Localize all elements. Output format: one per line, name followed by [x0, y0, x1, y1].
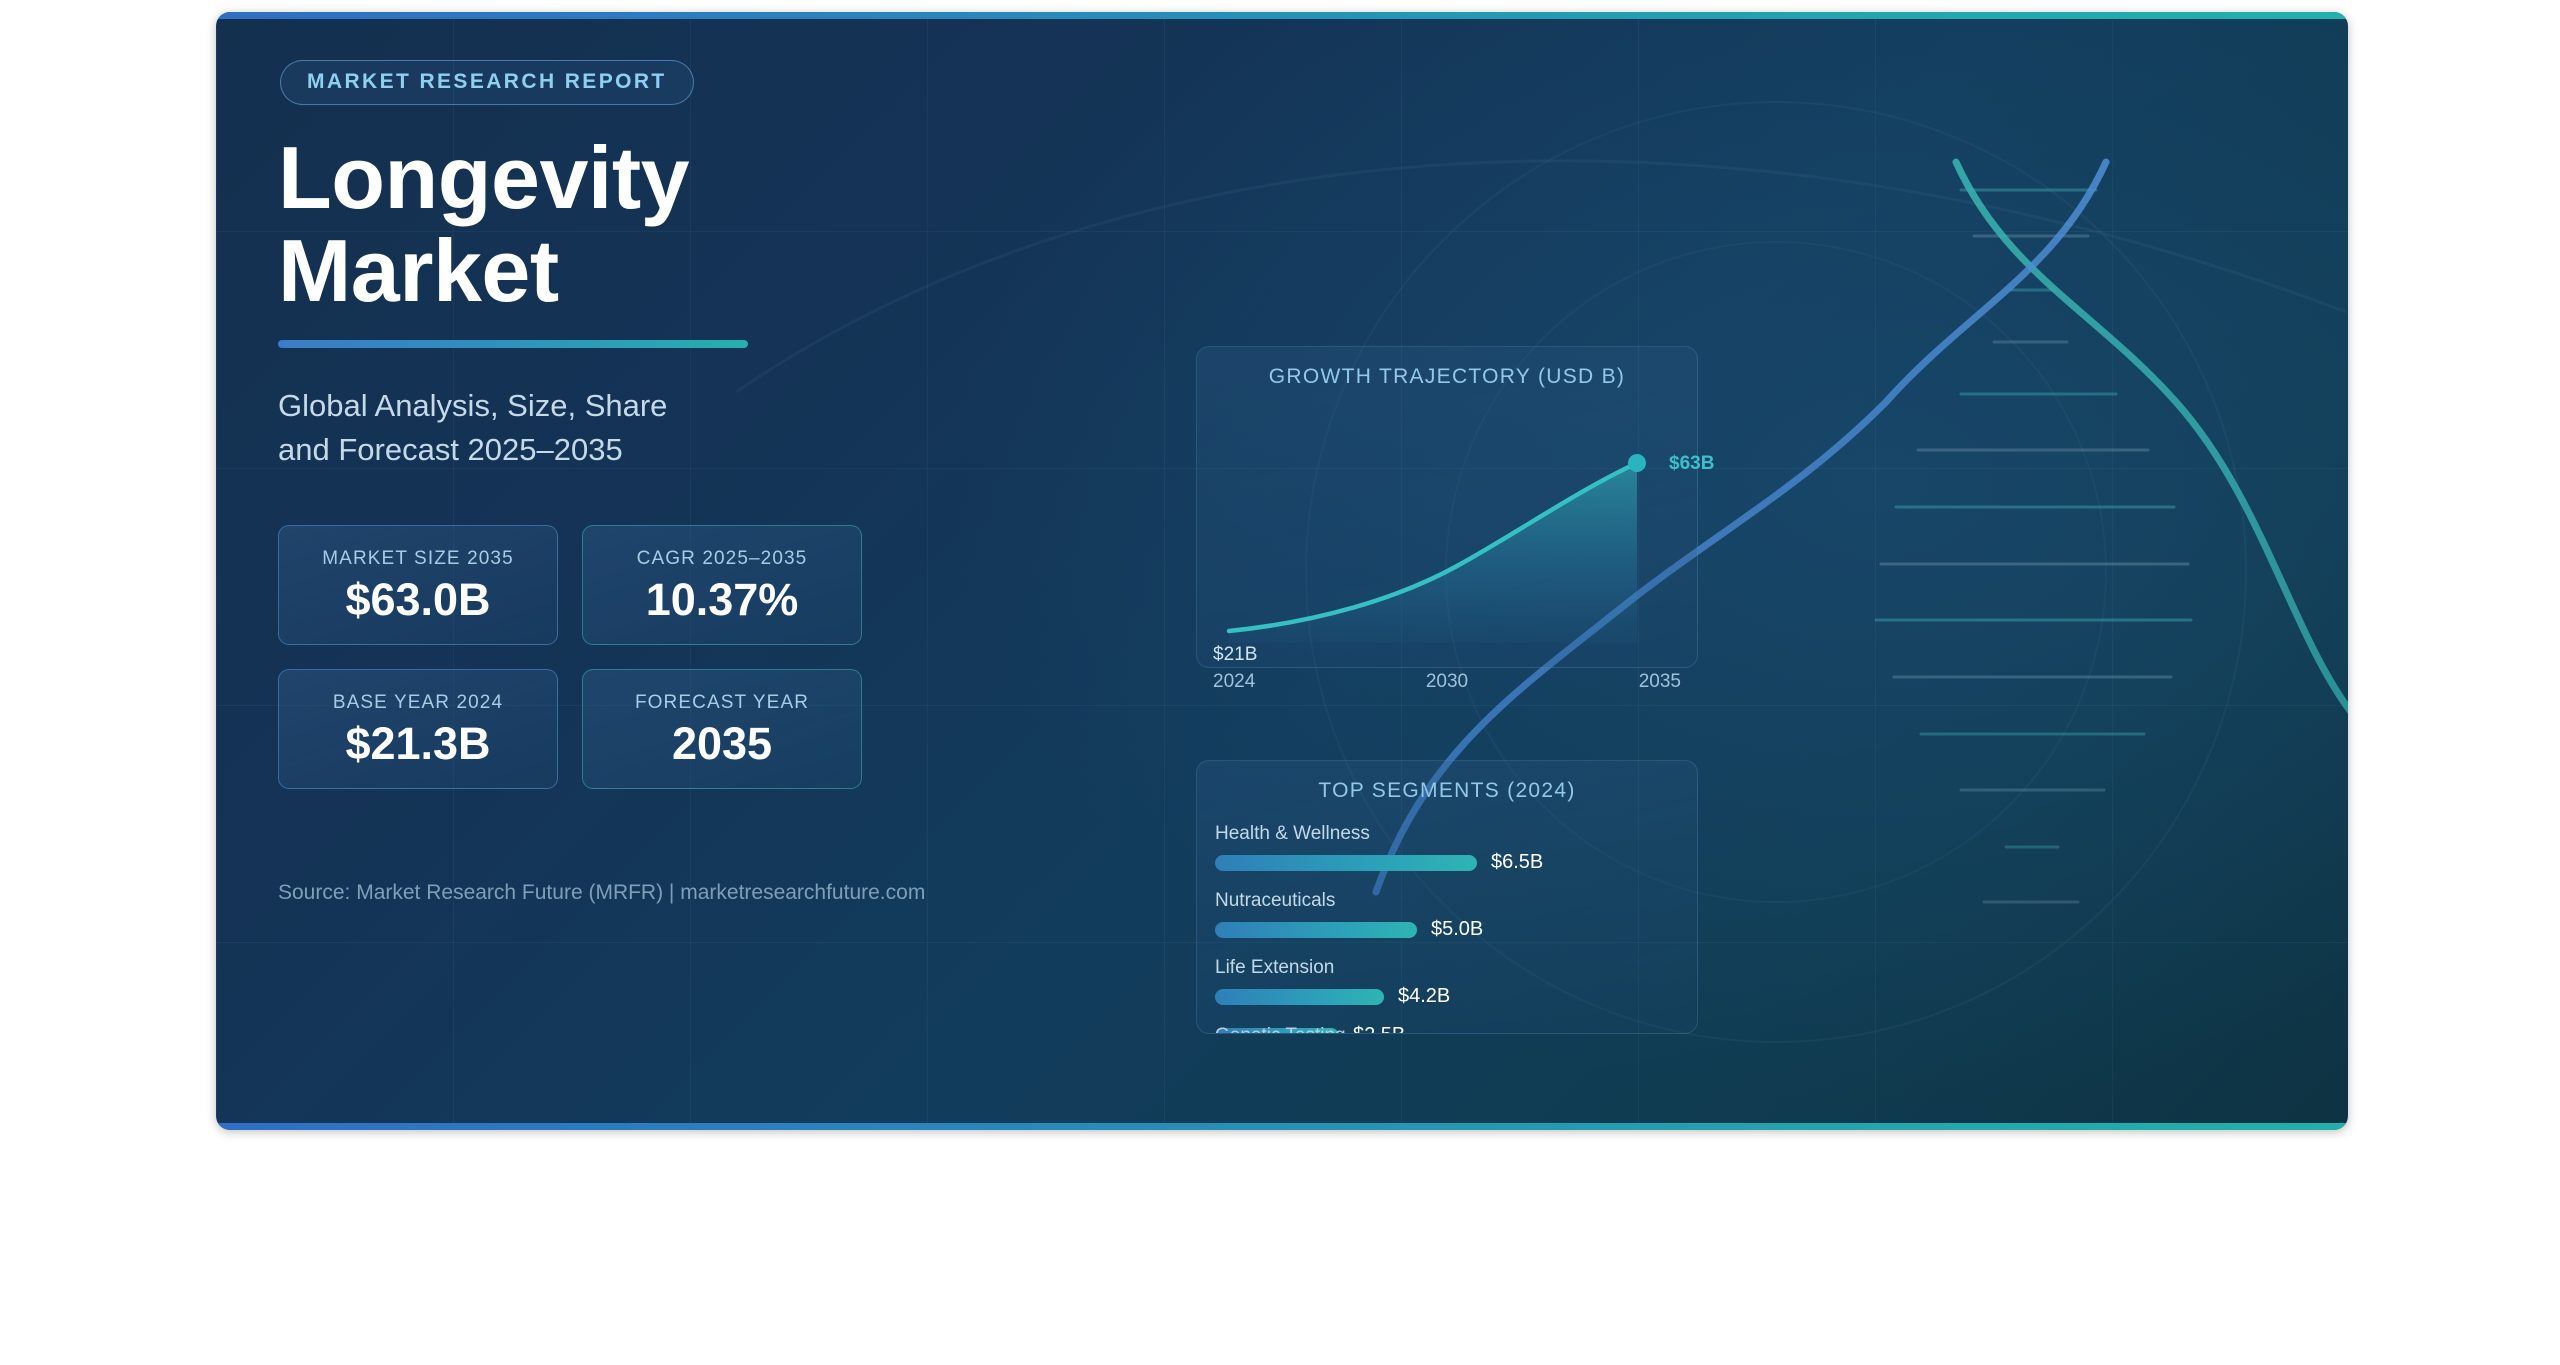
top-accent-bar — [216, 12, 2348, 19]
stat-card-value: 2035 — [672, 721, 772, 766]
growth-start-value: $21B — [1213, 644, 1257, 666]
stat-card-value: $21.3B — [345, 721, 490, 766]
hero-column: MARKET RESEARCH REPORT Longevity Market … — [278, 60, 898, 905]
x-tick-end: 2035 — [1639, 671, 1681, 693]
stat-card-label: CAGR 2025–2035 — [637, 548, 808, 570]
stat-card-label: BASE YEAR 2024 — [333, 692, 503, 714]
dna-rungs — [1876, 190, 2191, 902]
growth-trajectory-panel: GROWTH TRAJECTORY (USD B) $63B $21B — [1196, 346, 1698, 668]
growth-endpoint-dot — [1628, 454, 1646, 472]
segment-value: $4.2B — [1398, 985, 1450, 1008]
segment-label: Health & Wellness — [1215, 823, 1679, 845]
segment-row: Life Extension $4.2B — [1215, 957, 1679, 1008]
growth-trajectory-chart: $63B $21B 2024 2030 2035 — [1197, 391, 1697, 667]
segment-value: $5.0B — [1431, 918, 1483, 941]
segment-value: $6.5B — [1491, 851, 1543, 874]
dna-strand-teal — [1956, 162, 2348, 972]
segment-label: Nutraceuticals — [1215, 890, 1679, 912]
title-underline-accent — [278, 340, 748, 348]
stat-card-label: MARKET SIZE 2035 — [322, 548, 514, 570]
growth-endpoint-value: $63B — [1669, 453, 1714, 475]
segment-row: Genetic Testing $2.5B — [1215, 1024, 1679, 1034]
segment-row: Nutraceuticals $5.0B — [1215, 890, 1679, 941]
page-title-line-1: Longevity — [278, 131, 898, 224]
page-title-line-2: Market — [278, 224, 898, 317]
segment-label: Life Extension — [1215, 957, 1679, 979]
growth-x-axis: 2024 2030 2035 — [1213, 671, 1681, 693]
growth-area-fill — [1229, 463, 1637, 643]
top-segments-panel: TOP SEGMENTS (2024) Health & Wellness $6… — [1196, 760, 1698, 1034]
x-tick-mid: 2030 — [1426, 671, 1468, 693]
page-subtitle-line-1: Global Analysis, Size, Share — [278, 384, 898, 429]
segment-row: Health & Wellness $6.5B — [1215, 823, 1679, 874]
growth-trajectory-title: GROWTH TRAJECTORY (USD B) — [1197, 347, 1697, 389]
source-attribution: Source: Market Research Future (MRFR) | … — [278, 881, 898, 905]
stat-card-forecast-year: FORECAST YEAR 2035 — [582, 669, 862, 789]
stat-card-base-year-2024: BASE YEAR 2024 $21.3B — [278, 669, 558, 789]
stat-card-value: $63.0B — [345, 577, 490, 622]
stat-card-market-size-2035: MARKET SIZE 2035 $63.0B — [278, 525, 558, 645]
segments-list: Health & Wellness $6.5B Nutraceuticals $… — [1215, 823, 1679, 1034]
stat-card-label: FORECAST YEAR — [635, 692, 809, 714]
growth-curve-svg — [1197, 391, 1697, 667]
page-subtitle: Global Analysis, Size, Share and Forecas… — [278, 384, 898, 473]
segment-bar — [1215, 855, 1477, 871]
x-tick-start: 2024 — [1213, 671, 1255, 693]
page-subtitle-line-2: and Forecast 2025–2035 — [278, 428, 898, 473]
segment-bar — [1215, 989, 1384, 1005]
segment-label: Genetic Testing — [1215, 1025, 1346, 1034]
segment-value: $2.5B — [1353, 1024, 1405, 1034]
top-segments-title: TOP SEGMENTS (2024) — [1197, 761, 1697, 803]
page-title: Longevity Market — [278, 131, 898, 318]
stat-card-value: 10.37% — [646, 577, 799, 622]
key-metrics-grid: MARKET SIZE 2035 $63.0B CAGR 2025–2035 1… — [278, 525, 898, 789]
report-canvas: MARKET RESEARCH REPORT Longevity Market … — [216, 12, 2348, 1130]
bottom-accent-bar — [216, 1123, 2348, 1130]
segment-bar — [1215, 922, 1417, 938]
report-type-badge-label: MARKET RESEARCH REPORT — [307, 70, 667, 94]
report-type-badge: MARKET RESEARCH REPORT — [280, 60, 694, 105]
stat-card-cagr: CAGR 2025–2035 10.37% — [582, 525, 862, 645]
